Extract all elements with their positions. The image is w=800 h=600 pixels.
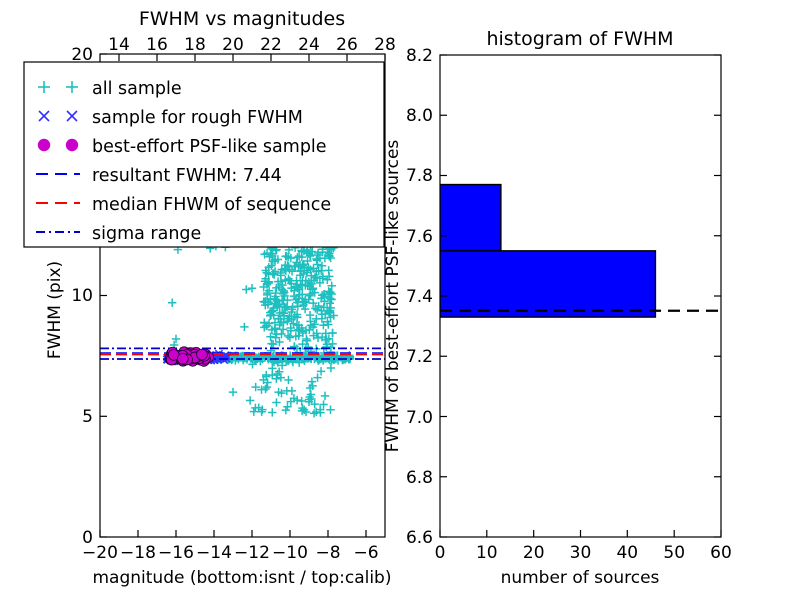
left-ytick-5: 5 <box>82 407 93 427</box>
right-yaxis-label: FWHM of best-effort PSF-like sources <box>383 140 403 453</box>
top-tick-16: 16 <box>146 35 168 55</box>
right-ytick-8-0: 8.0 <box>406 106 433 126</box>
histogram-bar <box>440 251 655 317</box>
legend-label-all-sample: all sample <box>92 79 182 99</box>
bottom-tick-m12: −12 <box>234 543 270 563</box>
right-ytick-7-0: 7.0 <box>406 408 433 428</box>
left-yaxis-label: FWHM (pix) <box>45 261 65 359</box>
top-tick-20: 20 <box>222 35 244 55</box>
right-ytick-7-4: 7.4 <box>406 287 433 307</box>
series-psf-like-sample <box>165 347 213 367</box>
bottom-tick-m16: −16 <box>158 543 194 563</box>
legend-label-median-fwhm: median FHWM of sequence <box>92 195 331 215</box>
right-ytick-6-6: 6.6 <box>406 528 433 548</box>
right-xtick-20: 20 <box>523 543 545 563</box>
top-tick-18: 18 <box>184 35 206 55</box>
left-x-ticklabels: −20 −18 −16 −14 −12 −10 −8 −6 <box>82 543 378 563</box>
right-xaxis-label: number of sources <box>501 568 660 588</box>
legend-label-psf-sample: best-effort PSF-like sample <box>92 137 327 157</box>
right-xtick-50: 50 <box>663 543 685 563</box>
right-ytick-7-6: 7.6 <box>406 227 433 247</box>
bottom-tick-m8: −8 <box>315 543 340 563</box>
right-panel-title: histogram of FWHM <box>486 28 673 50</box>
legend-label-sigma-range: sigma range <box>92 224 201 244</box>
right-y-ticklabels: 6.6 6.8 7.0 7.2 7.4 7.6 7.8 8.0 8.2 <box>406 46 433 548</box>
right-xtick-60: 60 <box>710 543 732 563</box>
right-ytick-7-2: 7.2 <box>406 347 433 367</box>
left-panel-title: FWHM vs magnitudes <box>139 8 345 30</box>
right-xtick-30: 30 <box>570 543 592 563</box>
bottom-tick-m14: −14 <box>196 543 232 563</box>
right-xtick-40: 40 <box>616 543 638 563</box>
left-ytick-10: 10 <box>71 286 93 306</box>
legend-label-rough-fwhm: sample for rough FWHM <box>92 108 303 128</box>
matplotlib-figure: FWHM vs magnitudes 14 16 18 20 22 24 26 … <box>0 0 800 600</box>
top-tick-26: 26 <box>336 35 358 55</box>
top-tick-24: 24 <box>298 35 320 55</box>
bottom-tick-m18: −18 <box>120 543 156 563</box>
figure-canvas: FWHM vs magnitudes 14 16 18 20 22 24 26 … <box>0 0 800 600</box>
left-xaxis-label: magnitude (bottom:isnt / top:calib) <box>93 568 392 588</box>
right-xtick-0: 0 <box>435 543 446 563</box>
bottom-tick-m6: −6 <box>353 543 378 563</box>
legend-box[interactable]: all sample sample for rough FWHM best- <box>24 62 384 247</box>
bottom-tick-m20: −20 <box>82 543 118 563</box>
top-tick-28: 28 <box>374 35 396 55</box>
right-ytick-7-8: 7.8 <box>406 166 433 186</box>
top-tick-22: 22 <box>260 35 282 55</box>
top-tick-14: 14 <box>108 35 130 55</box>
right-ytick-6-8: 6.8 <box>406 468 433 488</box>
legend-label-resultant-fwhm: resultant FWHM: 7.44 <box>92 166 282 186</box>
bottom-tick-m10: −10 <box>272 543 308 563</box>
right-ytick-8-2: 8.2 <box>406 46 433 66</box>
histogram-bar <box>440 185 501 251</box>
right-xtick-10: 10 <box>476 543 498 563</box>
